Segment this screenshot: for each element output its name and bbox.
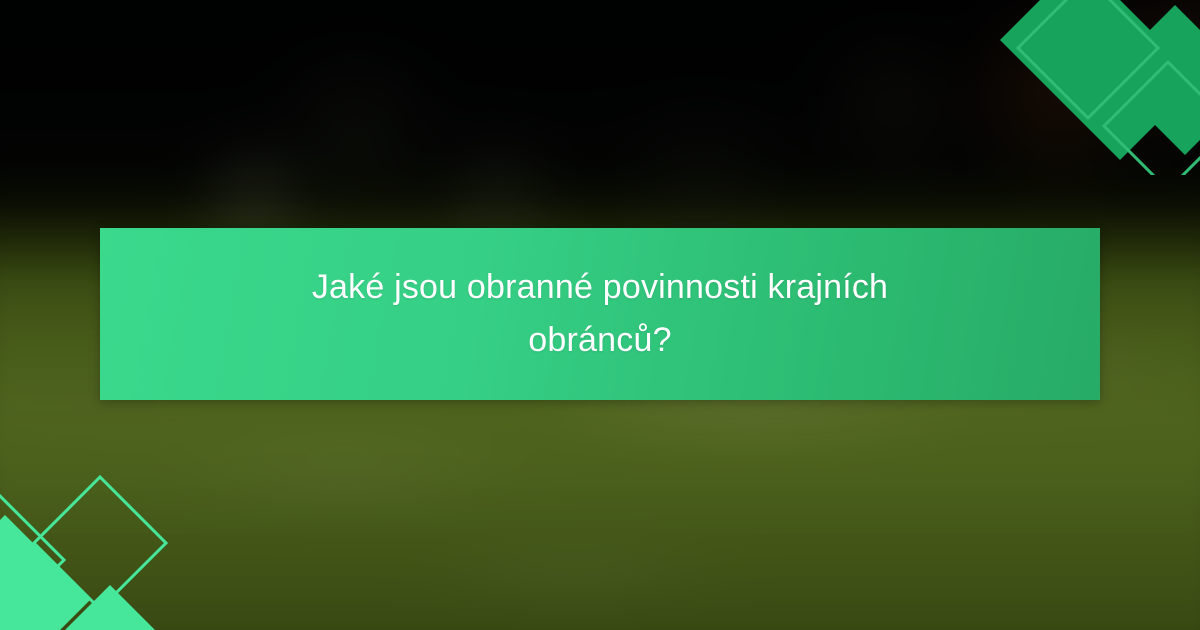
- quote-text: Jaké jsou obranné povinnosti krajních ob…: [250, 261, 950, 366]
- quote-card: Jaké jsou obranné povinnosti krajních ob…: [0, 0, 1200, 630]
- quote-banner: Jaké jsou obranné povinnosti krajních ob…: [100, 228, 1100, 400]
